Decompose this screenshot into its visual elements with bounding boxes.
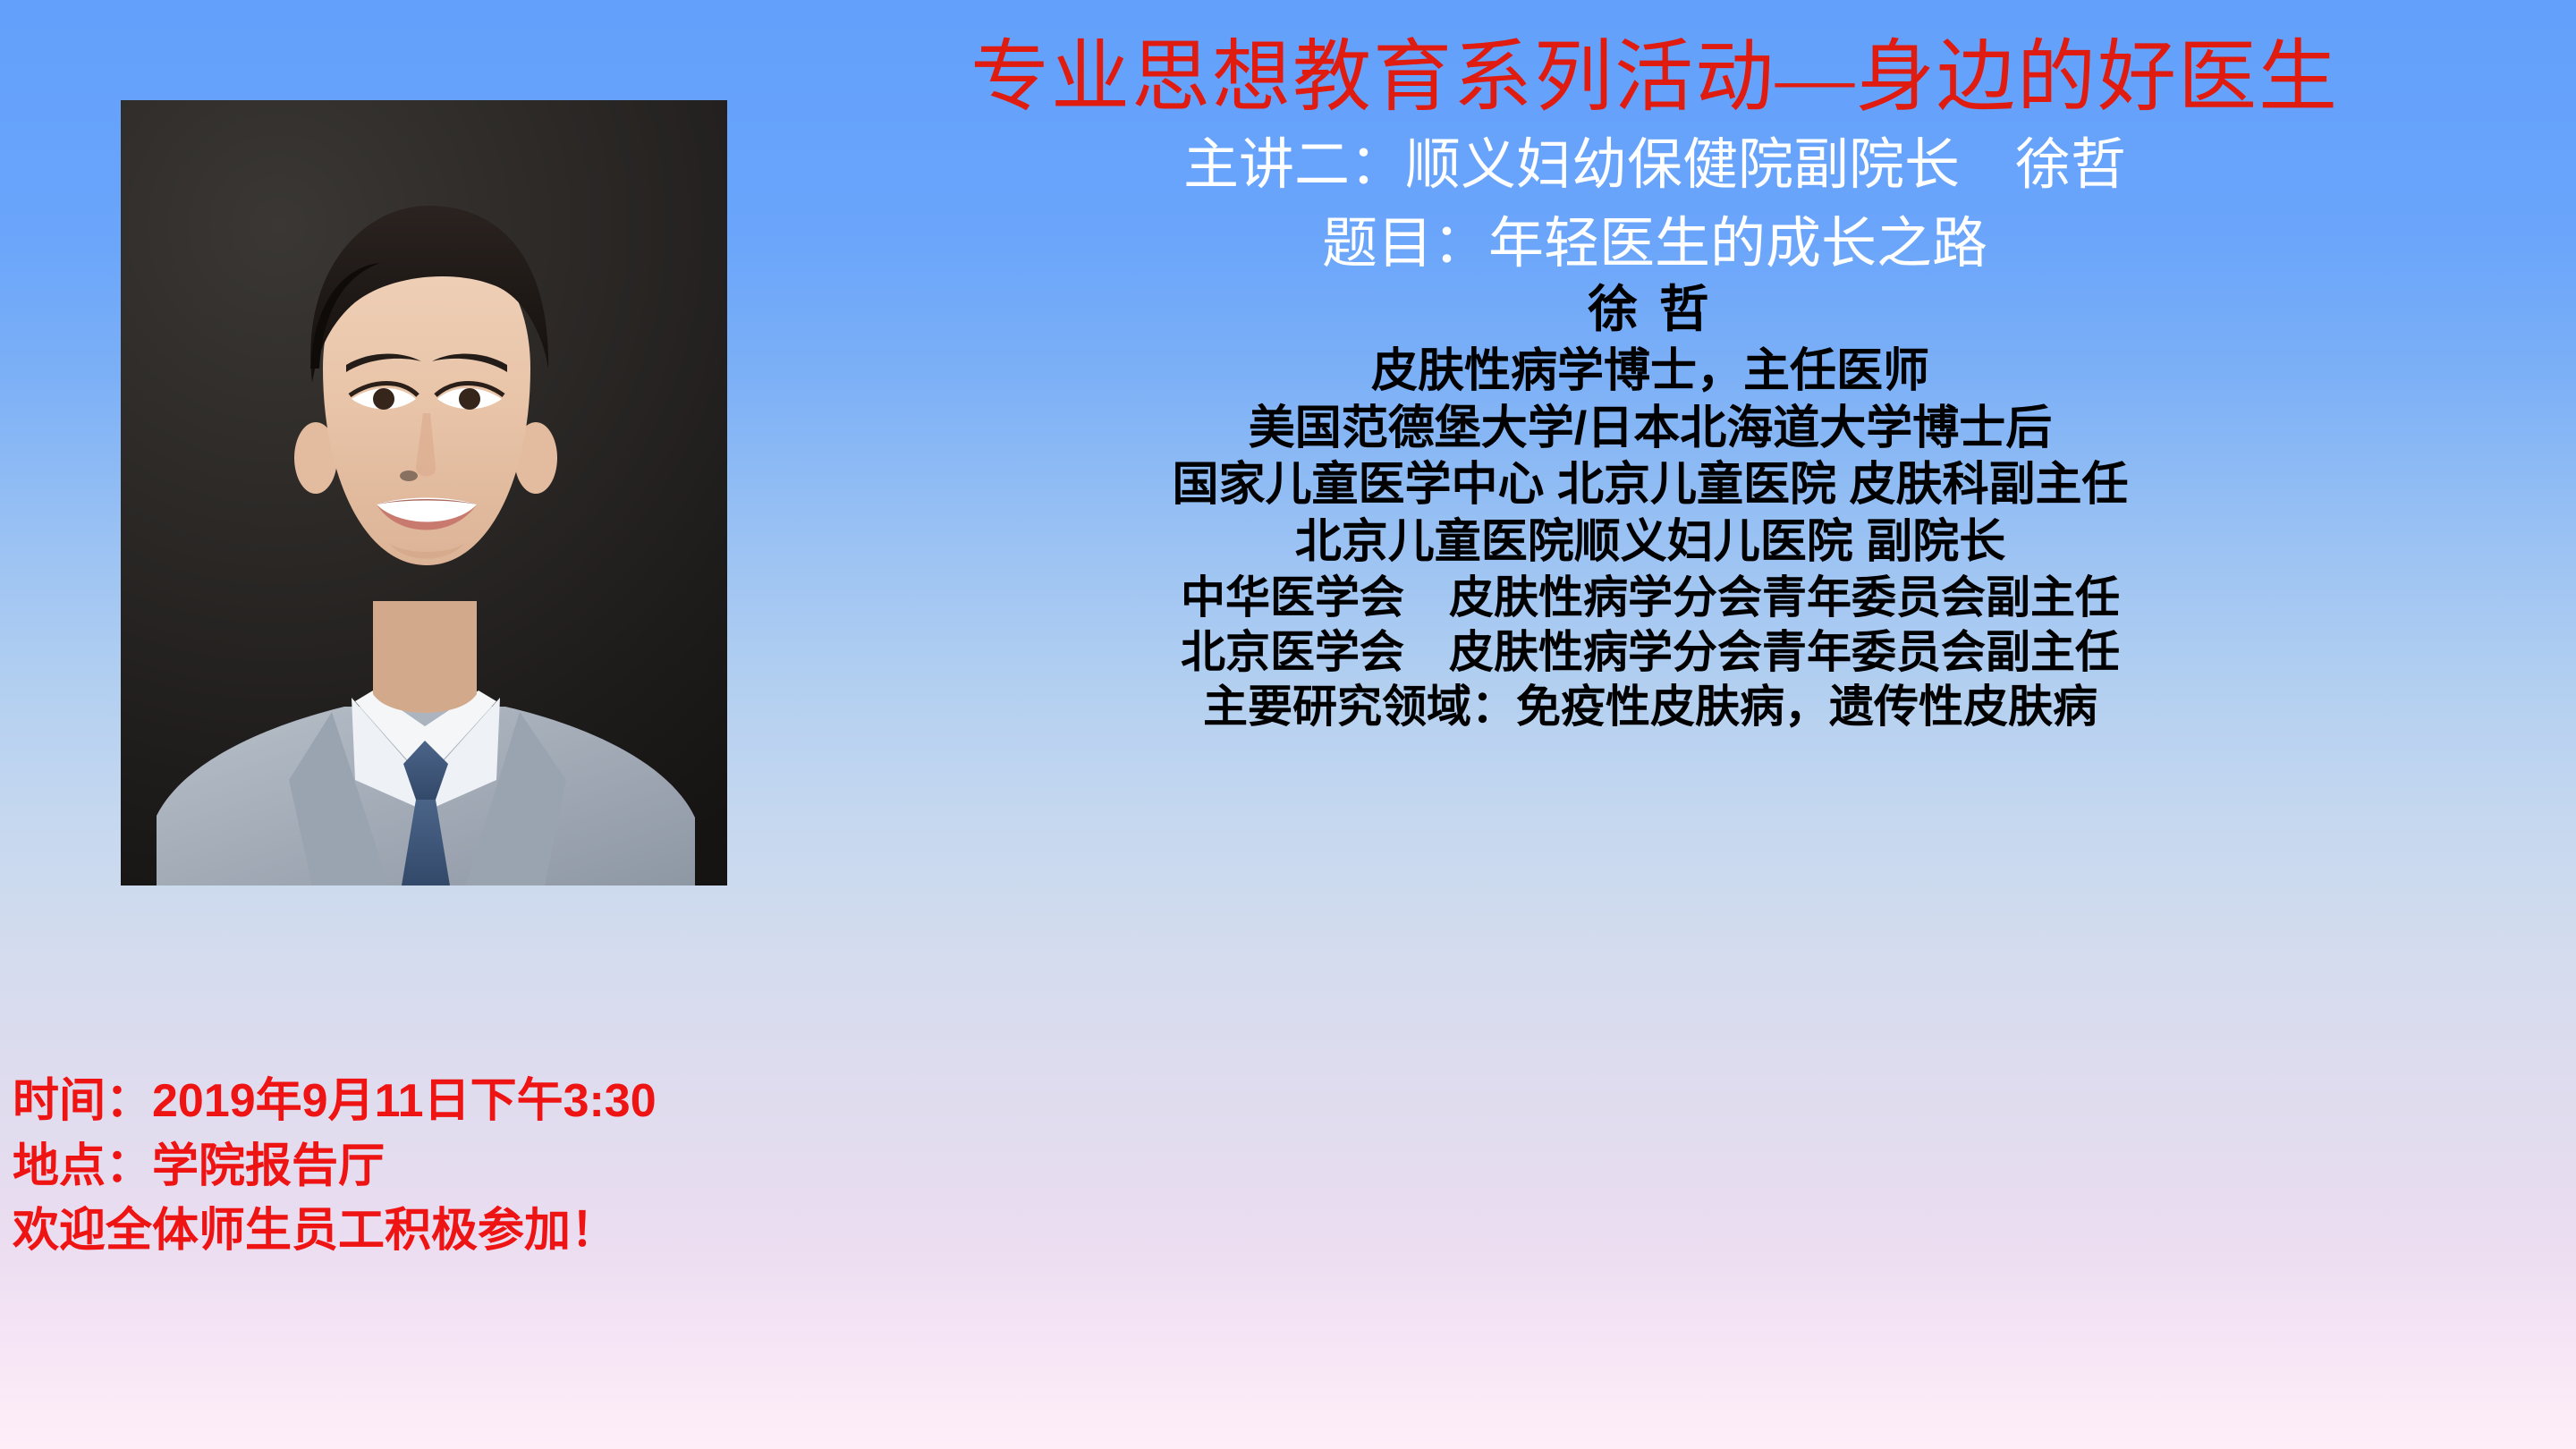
event-details-block: 时间：2019年9月11日下午3:30 地点：学院报告厅 欢迎全体师生员工积极参…	[13, 1070, 657, 1265]
bio-line-4: 北京儿童医院顺义妇儿医院 副院长	[733, 514, 2567, 571]
bio-line-1: 皮肤性病学博士，主任医师	[733, 343, 2567, 400]
event-time: 时间：2019年9月11日下午3:30	[13, 1070, 657, 1133]
bio-line-6: 北京医学会 皮肤性病学分会青年委员会副主任	[733, 625, 2567, 680]
poster-canvas: 专业思想教育系列活动—身边的好医生 主讲二：顺义妇幼保健院副院长 徐哲 题目：年…	[0, 0, 2576, 1449]
bio-line-2: 美国范德堡大学/日本北海道大学博士后	[733, 401, 2567, 457]
bio-line-3: 国家儿童医学中心 北京儿童医院 皮肤科副主任	[733, 457, 2567, 513]
bio-line-7: 主要研究领域：免疫性皮肤病，遗传性皮肤病	[733, 680, 2567, 734]
speaker-portrait-photo	[121, 100, 727, 885]
topic-line: 题目：年轻医生的成长之路	[733, 211, 2576, 277]
speaker-bio-block: 徐 哲 皮肤性病学博士，主任医师 美国范德堡大学/日本北海道大学博士后 国家儿童…	[733, 279, 2567, 734]
poster-title: 专业思想教育系列活动—身边的好医生	[733, 38, 2576, 120]
bio-line-5: 中华医学会 皮肤性病学分会青年委员会副主任	[733, 571, 2567, 625]
event-place: 地点：学院报告厅	[13, 1135, 657, 1199]
portrait-illustration	[121, 100, 727, 885]
event-invitation: 欢迎全体师生员工积极参加！	[13, 1199, 657, 1263]
speaker-name: 徐 哲	[733, 279, 2567, 340]
speaker-line: 主讲二：顺义妇幼保健院副院长 徐哲	[733, 132, 2576, 199]
